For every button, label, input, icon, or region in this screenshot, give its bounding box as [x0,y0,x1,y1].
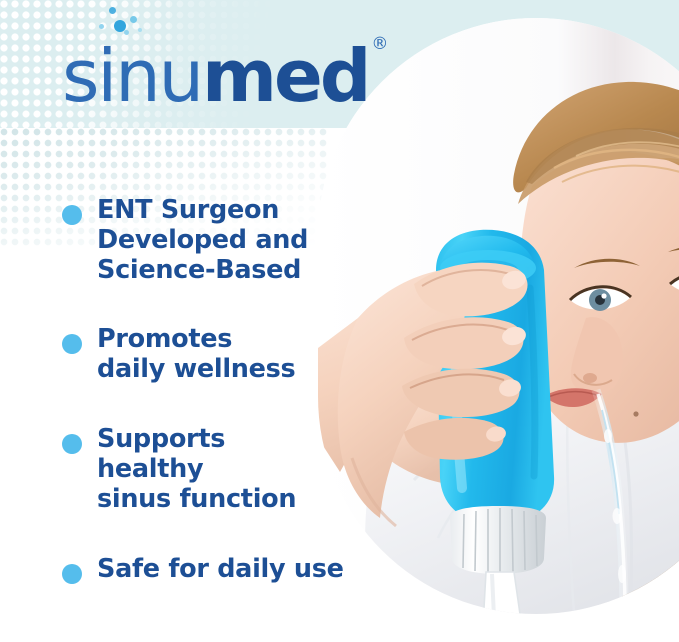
registered-trademark-icon: ® [371,34,388,54]
feature-list: ENT Surgeon Developed and Science-Based … [62,196,362,584]
logo-text-sinu: sinu [62,34,202,118]
feature-text: Promotes daily wellness [97,325,295,385]
list-item: Safe for daily use [62,555,362,585]
feature-text: Supports healthy sinus function [97,425,296,514]
bubble-dot-icon [114,20,126,32]
logo-text-med: med [202,34,368,118]
logo-wordmark: sinumed [62,46,368,108]
bullet-dot-icon [62,564,82,584]
bubble-dot-icon [99,24,104,29]
product-banner: sinumed ® ENT Surgeon Developed and Scie… [0,0,679,642]
bubble-dot-icon [138,28,142,32]
bullet-dot-icon [62,334,82,354]
bullet-dot-icon [62,434,82,454]
feature-text: ENT Surgeon Developed and Science-Based [97,196,308,285]
bullet-dot-icon [62,205,82,225]
bottle-cap [450,506,546,574]
list-item: Promotes daily wellness [62,325,362,385]
beauty-mark [633,411,638,416]
list-item: ENT Surgeon Developed and Science-Based [62,196,362,285]
list-item: Supports healthy sinus function [62,425,362,514]
feature-text: Safe for daily use [97,555,344,585]
brand-logo: sinumed ® [62,22,388,108]
